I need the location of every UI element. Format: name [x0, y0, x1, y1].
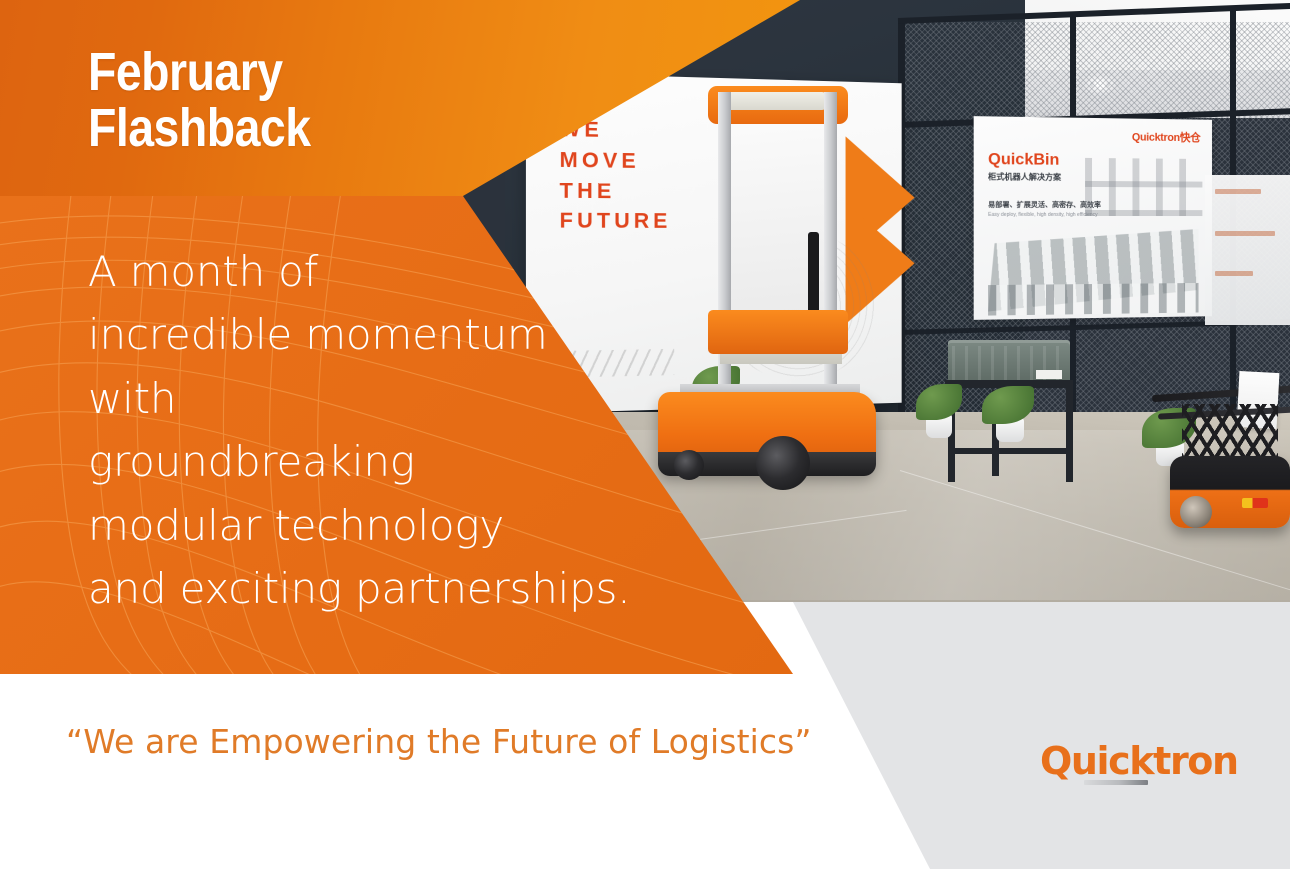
- title-line-1: February: [88, 42, 283, 102]
- lede-line: groundbreaking: [88, 430, 728, 493]
- title-line-2: Flashback: [88, 98, 311, 158]
- logo-wordmark: Quicktron: [1040, 742, 1245, 780]
- agv-mast-cap: [726, 92, 826, 110]
- table-rail: [948, 448, 1073, 454]
- banner-slogan: WEMOVETHEFUTURE: [560, 114, 672, 237]
- poster-features: 易部署、扩展灵活、高密存、高效率: [988, 200, 1101, 210]
- poster-line: [1215, 271, 1253, 276]
- secondary-wall-poster: [1205, 175, 1290, 325]
- amr-status-light: [1242, 498, 1268, 508]
- quickbin-wall-poster: Quicktron快仓 QuickBin 柜式机器人解决方案 易部署、扩展灵活、…: [974, 116, 1212, 320]
- lede-line: with: [88, 367, 728, 430]
- amr-wheel: [1180, 496, 1212, 528]
- lede-line: and exciting partnerships.: [88, 557, 728, 620]
- tagline: “We are Empowering the Future of Logisti…: [66, 722, 812, 761]
- table-leg: [1066, 386, 1073, 482]
- agv-mast-base-cover: [708, 310, 848, 354]
- crate-label: [1036, 370, 1062, 379]
- quicktron-logo: Quicktron: [1040, 742, 1245, 790]
- poster-subtitle: 柜式机器人解决方案: [988, 171, 1061, 183]
- poster-line: [1215, 189, 1261, 194]
- poster-title: QuickBin: [988, 151, 1059, 170]
- amr-scissor-lift: [1182, 404, 1278, 460]
- logo-underline-accent: [1084, 780, 1148, 785]
- storage-crate: [948, 340, 1070, 384]
- poster-icon-grid: [1085, 158, 1202, 216]
- agv-wheel: [756, 436, 810, 490]
- page-title: February Flashback: [88, 44, 449, 156]
- poster-canvas: WEMOVETHEFUTURE Quicktron快仓 QuickBin 柜式机…: [0, 0, 1290, 869]
- poster-robot-row: [988, 283, 1198, 316]
- lede-line: A month of: [88, 240, 728, 303]
- poster-features-en: Easy deploy, flexible, high density, hig…: [988, 212, 1098, 218]
- poster-line: [1215, 231, 1275, 236]
- lede-line: incredible momentum: [88, 303, 728, 366]
- poster-logo: Quicktron快仓: [1132, 129, 1201, 146]
- lede-paragraph: A month of incredible momentum with grou…: [88, 240, 728, 620]
- lede-line: modular technology: [88, 494, 728, 557]
